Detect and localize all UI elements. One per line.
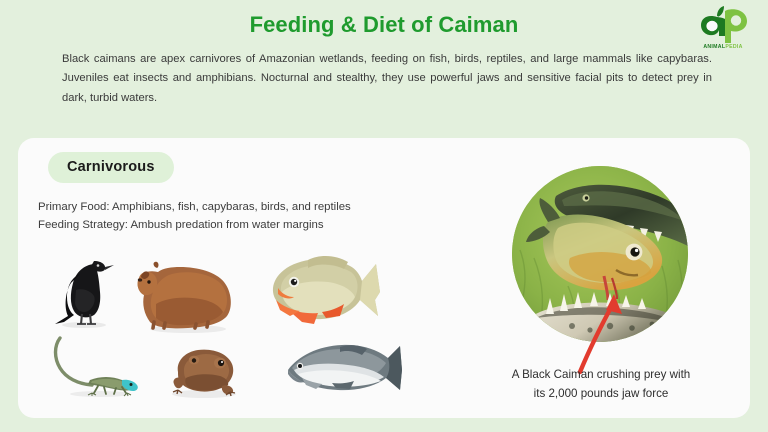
logo-word-animal: ANIMAL — [703, 44, 725, 50]
logo-mark-icon — [697, 6, 749, 44]
salmon-fish-image — [274, 336, 410, 398]
prey-image-grid — [44, 248, 444, 406]
fact-feeding-strategy: Feeding Strategy: Ambush predation from … — [38, 216, 498, 234]
caiman-crushing-prey-photo — [512, 166, 688, 342]
caiman-photo-wrap — [512, 166, 688, 342]
fact-primary-food: Primary Food: Amphibians, fish, capybara… — [38, 198, 498, 216]
piranha-fish-image — [256, 250, 384, 330]
logo-wordmark: ANIMALPEDIA — [703, 45, 742, 50]
lizard-image — [48, 336, 146, 400]
animalpedia-logo[interactable]: ANIMALPEDIA — [692, 6, 754, 58]
page-header: Feeding & Diet of Caiman ANIMALPEDIA Bla… — [0, 0, 768, 132]
diet-facts-list: Primary Food: Amphibians, fish, capybara… — [38, 198, 498, 235]
toad-image — [160, 342, 248, 400]
photo-caption-line-1: A Black Caiman crushing prey with — [476, 366, 726, 385]
photo-caption-line-2: its 2,000 pounds jaw force — [476, 385, 726, 404]
diet-card: Carnivorous Primary Food: Amphibians, fi… — [18, 138, 750, 418]
crow-bird-image — [46, 252, 120, 330]
intro-paragraph: Black caimans are apex carnivores of Ama… — [62, 50, 712, 108]
photo-caption: A Black Caiman crushing prey with its 2,… — [476, 366, 726, 404]
page-title: Feeding & Diet of Caiman — [0, 0, 768, 38]
logo-word-pedia: PEDIA — [725, 44, 742, 50]
diet-type-badge: Carnivorous — [48, 152, 174, 183]
capybara-image — [132, 248, 240, 334]
